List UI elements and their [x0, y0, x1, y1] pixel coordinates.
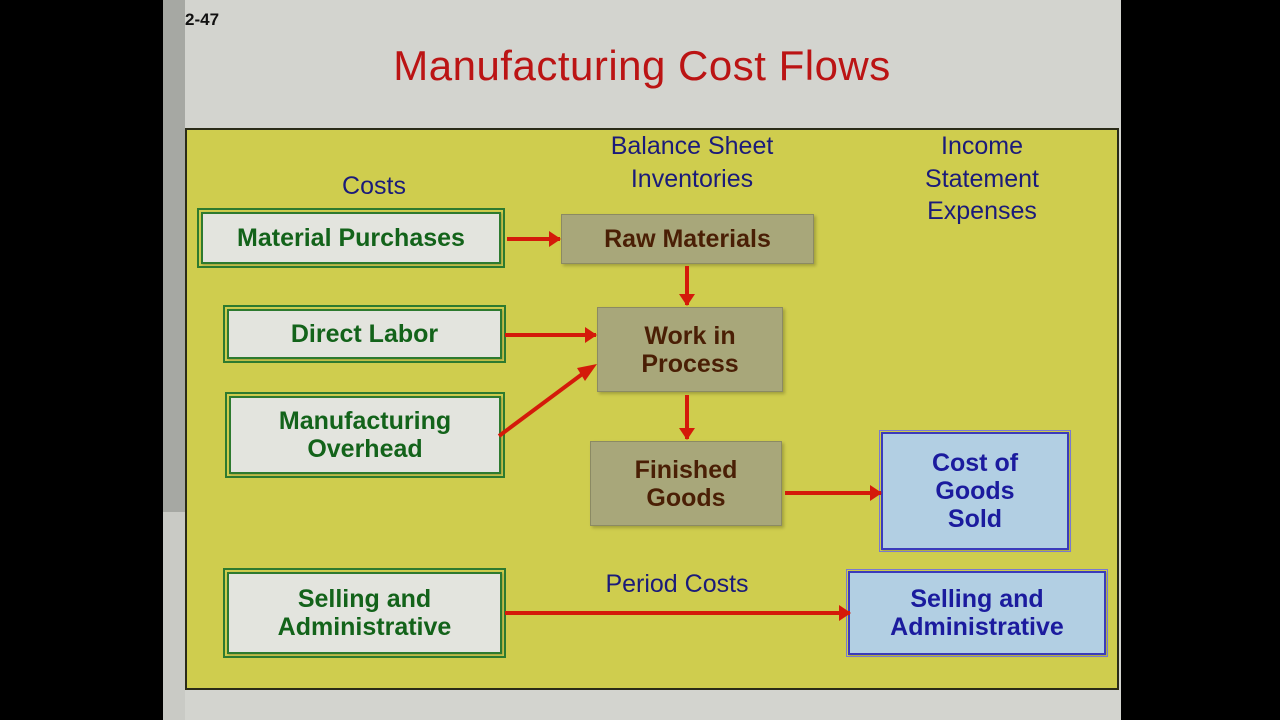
page-title: Manufacturing Cost Flows	[163, 42, 1121, 90]
box-work-in-process-line1: Work in	[644, 322, 735, 350]
box-selling-administrative-cost-line1: Selling and	[298, 585, 431, 613]
column-header-income-statement: Income Statement Expenses	[857, 130, 1107, 228]
arrow-work-in-process-to-finished-goods	[685, 395, 689, 439]
box-finished-goods[interactable]: Finished Goods	[590, 441, 782, 526]
letterbox-bar-right	[1121, 0, 1280, 720]
label-period-costs: Period Costs	[547, 570, 807, 599]
box-selling-administrative-expense-line2: Administrative	[890, 613, 1064, 641]
column-header-balance-sheet: Balance Sheet Inventories	[547, 130, 837, 195]
arrow-material-purchases-to-raw-materials	[507, 237, 560, 241]
letterbox-bar-left	[0, 0, 163, 720]
page-number: 2-47	[185, 10, 219, 30]
box-cost-of-goods-sold-line2: Goods	[935, 477, 1014, 505]
slide-viewer: 2-47 Manufacturing Cost Flows Costs Bala…	[0, 0, 1280, 720]
box-direct-labor-label: Direct Labor	[291, 320, 438, 348]
box-finished-goods-line1: Finished	[635, 456, 738, 484]
column-header-balance-sheet-line1: Balance Sheet	[547, 130, 837, 163]
box-material-purchases-label: Material Purchases	[237, 224, 465, 252]
column-header-costs-label: Costs	[342, 172, 406, 200]
box-cost-of-goods-sold-line3: Sold	[948, 505, 1002, 533]
box-finished-goods-line2: Goods	[646, 484, 725, 512]
column-header-income-line2: Statement	[857, 163, 1107, 196]
box-selling-administrative-expense[interactable]: Selling and Administrative	[848, 571, 1106, 655]
box-work-in-process[interactable]: Work in Process	[597, 307, 783, 392]
arrow-manufacturing-overhead-to-work-in-process	[497, 360, 607, 440]
arrow-selling-administrative-period-costs	[505, 611, 850, 615]
box-manufacturing-overhead-line1: Manufacturing	[279, 407, 451, 435]
box-cost-of-goods-sold[interactable]: Cost of Goods Sold	[881, 432, 1069, 550]
box-manufacturing-overhead[interactable]: Manufacturing Overhead	[229, 396, 501, 474]
column-header-income-line1: Income	[857, 130, 1107, 163]
box-selling-administrative-expense-line1: Selling and	[910, 585, 1043, 613]
cost-flow-diagram: Costs Balance Sheet Inventories Income S…	[185, 128, 1119, 690]
box-cost-of-goods-sold-line1: Cost of	[932, 449, 1018, 477]
column-header-costs: Costs	[279, 170, 469, 203]
arrow-raw-materials-to-work-in-process	[685, 266, 689, 305]
box-selling-administrative-cost-line2: Administrative	[278, 613, 452, 641]
column-header-income-line3: Expenses	[857, 195, 1107, 228]
column-header-balance-sheet-line2: Inventories	[547, 163, 837, 196]
box-material-purchases[interactable]: Material Purchases	[201, 212, 501, 264]
arrow-direct-labor-to-work-in-process	[505, 333, 596, 337]
box-raw-materials[interactable]: Raw Materials	[561, 214, 814, 264]
box-direct-labor[interactable]: Direct Labor	[227, 309, 502, 359]
arrow-finished-goods-to-cost-of-goods-sold	[785, 491, 881, 495]
presentation-slide: 2-47 Manufacturing Cost Flows Costs Bala…	[163, 0, 1121, 720]
box-selling-administrative-cost[interactable]: Selling and Administrative	[227, 572, 502, 654]
box-raw-materials-label: Raw Materials	[604, 225, 771, 253]
box-manufacturing-overhead-line2: Overhead	[307, 435, 422, 463]
box-work-in-process-line2: Process	[641, 350, 738, 378]
slide-left-margin-strip-lower	[163, 512, 185, 720]
